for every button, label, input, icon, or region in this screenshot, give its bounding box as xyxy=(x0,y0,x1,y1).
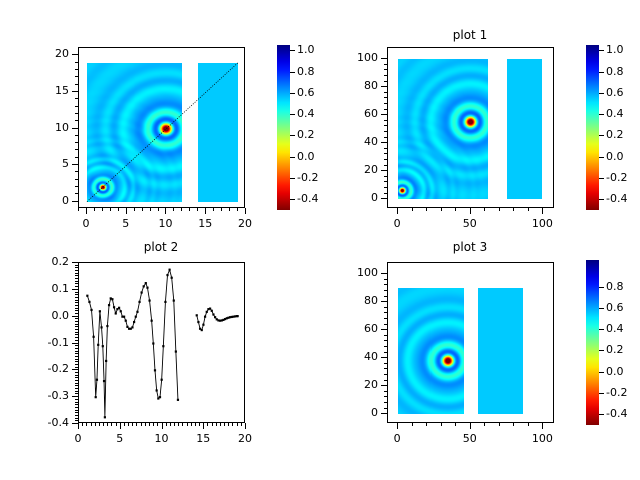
data-point-marker xyxy=(131,326,133,328)
y-tick-label: 0 xyxy=(327,191,378,204)
data-point-marker xyxy=(196,314,198,316)
y-minor-tick xyxy=(75,343,78,344)
data-point-marker xyxy=(168,269,170,271)
data-point-marker xyxy=(118,307,120,309)
x-minor-tick xyxy=(86,423,87,426)
y-minor-tick xyxy=(75,404,78,405)
y-minor-tick xyxy=(384,97,387,98)
colorbar-tick xyxy=(599,308,604,309)
data-point-marker xyxy=(104,416,106,418)
y-tick-label: 60 xyxy=(327,107,378,120)
colorbar-tick-label: -0.4 xyxy=(606,192,640,205)
colorbar-tick-label: -0.2 xyxy=(606,386,640,399)
colorbar-tick xyxy=(599,93,604,94)
y-tick-label: 20 xyxy=(327,163,378,176)
y-minor-tick xyxy=(75,348,78,349)
y-minor-tick xyxy=(75,305,78,306)
y-minor-tick xyxy=(384,142,387,143)
x-minor-tick xyxy=(397,208,398,211)
x-minor-tick xyxy=(228,423,229,426)
colorbar-tick-label: 0.8 xyxy=(606,65,640,78)
y-minor-tick xyxy=(384,187,387,188)
x-tick-label: 20 xyxy=(220,432,270,445)
x-minor-tick xyxy=(107,423,108,426)
colorbar-tick-label: 0.2 xyxy=(606,128,640,141)
y-tick-label: 0.2 xyxy=(18,255,69,268)
data-point-marker xyxy=(212,313,214,315)
y-minor-tick xyxy=(384,290,387,291)
y-tick-label: 10 xyxy=(18,121,69,134)
heatmap-tile-left-tile xyxy=(398,288,463,414)
data-point-marker xyxy=(86,295,88,297)
y-minor-tick xyxy=(75,418,78,419)
y-minor-tick xyxy=(75,275,78,276)
y-minor-tick xyxy=(384,69,387,70)
y-minor-tick xyxy=(75,377,78,378)
x-tick-label: 100 xyxy=(517,432,567,445)
y-minor-tick xyxy=(384,120,387,121)
y-tick-label: 0.0 xyxy=(18,309,69,322)
data-point-marker xyxy=(201,329,203,331)
y-tick-label: 15 xyxy=(18,84,69,97)
data-point-marker xyxy=(204,316,206,318)
colorbar-tick-label: 0.6 xyxy=(606,86,640,99)
y-tick-label: 40 xyxy=(327,350,378,363)
colorbar-tick xyxy=(599,114,604,115)
x-minor-tick xyxy=(120,423,121,426)
y-minor-tick xyxy=(75,383,78,384)
colorbar-tick xyxy=(599,157,604,158)
data-point-marker xyxy=(100,326,102,328)
x-minor-tick xyxy=(86,208,87,211)
data-point-marker xyxy=(145,282,147,284)
y-minor-tick xyxy=(75,313,78,314)
x-minor-tick xyxy=(528,423,529,426)
y-minor-tick xyxy=(384,193,387,194)
y-minor-tick xyxy=(384,318,387,319)
y-minor-tick xyxy=(384,284,387,285)
colorbar-tick-label: 0.2 xyxy=(606,343,640,356)
y-minor-tick xyxy=(384,176,387,177)
x-minor-tick xyxy=(199,423,200,426)
data-point-marker xyxy=(202,324,204,326)
y-minor-tick xyxy=(75,345,78,346)
y-minor-tick xyxy=(75,69,78,70)
subplot-title: plot 2 xyxy=(81,240,241,254)
y-minor-tick xyxy=(75,369,78,370)
x-minor-tick xyxy=(205,208,206,211)
data-point-marker xyxy=(105,360,107,362)
x-minor-tick xyxy=(221,208,222,211)
x-minor-tick xyxy=(229,208,230,211)
y-minor-tick xyxy=(384,307,387,308)
data-point-marker xyxy=(96,379,98,381)
x-minor-tick xyxy=(412,208,413,211)
y-tick-label: 0 xyxy=(327,406,378,419)
y-minor-tick xyxy=(75,278,78,279)
y-tick-label: 0 xyxy=(18,194,69,207)
subplot-title: plot 3 xyxy=(390,240,550,254)
y-minor-tick xyxy=(384,296,387,297)
data-point-marker xyxy=(143,285,145,287)
colorbar-tick xyxy=(290,72,295,73)
y-minor-tick xyxy=(75,372,78,373)
y-minor-tick xyxy=(384,368,387,369)
data-point-marker xyxy=(175,350,177,352)
y-minor-tick xyxy=(75,324,78,325)
y-minor-tick xyxy=(75,76,78,77)
x-minor-tick xyxy=(245,208,246,211)
data-point-marker xyxy=(156,389,158,391)
y-minor-tick xyxy=(384,408,387,409)
y-tick-label: -0.1 xyxy=(18,336,69,349)
x-minor-tick xyxy=(126,208,127,211)
x-minor-tick xyxy=(132,423,133,426)
axes-frame xyxy=(78,47,245,208)
heatmap-layer xyxy=(388,48,555,209)
x-minor-tick xyxy=(189,208,190,211)
colorbar-tick-label: 0.4 xyxy=(606,322,640,335)
y-minor-tick xyxy=(75,179,78,180)
y-minor-tick xyxy=(384,413,387,414)
x-minor-tick xyxy=(241,423,242,426)
axes-frame xyxy=(387,47,554,208)
y-minor-tick xyxy=(75,270,78,271)
data-point-marker xyxy=(99,310,101,312)
x-minor-tick xyxy=(216,423,217,426)
x-minor-tick xyxy=(166,423,167,426)
colorbar-tick-label: 0.0 xyxy=(606,365,640,378)
y-minor-tick xyxy=(75,283,78,284)
y-minor-tick xyxy=(75,334,78,335)
x-minor-tick xyxy=(397,423,398,426)
colorbar-tick-label: -0.2 xyxy=(606,171,640,184)
x-minor-tick xyxy=(103,423,104,426)
y-minor-tick xyxy=(384,340,387,341)
x-minor-tick xyxy=(237,208,238,211)
y-minor-tick xyxy=(75,113,78,114)
x-minor-tick xyxy=(150,208,151,211)
x-minor-tick xyxy=(124,423,125,426)
data-point-marker xyxy=(113,306,115,308)
x-minor-tick xyxy=(412,423,413,426)
y-tick-label: 40 xyxy=(327,135,378,148)
y-tick-label: -0.3 xyxy=(18,389,69,402)
axes-frame xyxy=(78,262,245,423)
y-minor-tick xyxy=(75,289,78,290)
y-minor-tick xyxy=(384,374,387,375)
y-minor-tick xyxy=(384,279,387,280)
x-minor-tick xyxy=(187,423,188,426)
colorbar xyxy=(586,260,599,425)
y-minor-tick xyxy=(384,357,387,358)
x-minor-tick xyxy=(173,208,174,211)
y-minor-tick xyxy=(75,399,78,400)
x-minor-tick xyxy=(213,208,214,211)
colorbar-tick xyxy=(290,178,295,179)
data-point-marker xyxy=(166,274,168,276)
y-tick-label: 100 xyxy=(327,266,378,279)
colorbar-tick xyxy=(599,350,604,351)
data-point-marker xyxy=(161,379,163,381)
y-minor-tick xyxy=(75,420,78,421)
x-tick-label: 100 xyxy=(517,217,567,230)
x-minor-tick xyxy=(220,423,221,426)
x-minor-tick xyxy=(207,423,208,426)
data-point-marker xyxy=(237,315,239,317)
x-minor-tick xyxy=(470,208,471,211)
y-minor-tick xyxy=(75,281,78,282)
y-minor-tick xyxy=(384,114,387,115)
x-minor-tick xyxy=(484,208,485,211)
y-minor-tick xyxy=(384,396,387,397)
y-minor-tick xyxy=(75,326,78,327)
x-minor-tick xyxy=(102,208,103,211)
y-minor-tick xyxy=(384,103,387,104)
x-minor-tick xyxy=(142,208,143,211)
colorbar-tick-label: 0.6 xyxy=(606,301,640,314)
colorbar-tick xyxy=(599,393,604,394)
x-minor-tick xyxy=(153,423,154,426)
x-minor-tick xyxy=(197,208,198,211)
x-minor-tick xyxy=(178,423,179,426)
y-minor-tick xyxy=(75,106,78,107)
y-minor-tick xyxy=(75,300,78,301)
y-minor-tick xyxy=(75,415,78,416)
y-minor-tick xyxy=(75,297,78,298)
y-minor-tick xyxy=(384,159,387,160)
x-minor-tick xyxy=(499,423,500,426)
colorbar-tick xyxy=(599,178,604,179)
y-minor-tick xyxy=(384,402,387,403)
data-point-marker xyxy=(120,310,122,312)
y-minor-tick xyxy=(75,292,78,293)
y-minor-tick xyxy=(75,186,78,187)
x-minor-tick xyxy=(136,423,137,426)
colorbar-tick xyxy=(290,114,295,115)
y-minor-tick xyxy=(75,120,78,121)
x-minor-tick xyxy=(111,423,112,426)
x-minor-tick xyxy=(181,208,182,211)
x-minor-tick xyxy=(441,423,442,426)
data-point-marker xyxy=(159,396,161,398)
y-minor-tick xyxy=(384,352,387,353)
data-point-marker xyxy=(148,299,150,301)
colorbar-tick-label: 0.8 xyxy=(606,280,640,293)
heatmap-tile-right-tile xyxy=(478,288,523,414)
y-minor-tick xyxy=(384,64,387,65)
colorbar-tick xyxy=(599,414,604,415)
y-major-tick xyxy=(72,262,78,263)
data-point-marker xyxy=(206,311,208,313)
y-minor-tick xyxy=(384,86,387,87)
x-tick-label: 50 xyxy=(445,217,495,230)
x-minor-tick xyxy=(128,423,129,426)
colorbar-tick xyxy=(599,372,604,373)
y-minor-tick xyxy=(384,363,387,364)
data-point-marker xyxy=(138,301,140,303)
y-minor-tick xyxy=(75,332,78,333)
x-minor-tick xyxy=(499,208,500,211)
subplot-title: plot 1 xyxy=(390,28,550,42)
colorbar-tick xyxy=(290,50,295,51)
x-minor-tick xyxy=(528,208,529,211)
data-point-marker xyxy=(125,320,127,322)
y-tick-label: 80 xyxy=(327,79,378,92)
data-point-marker xyxy=(123,316,125,318)
y-minor-tick xyxy=(75,273,78,274)
data-point-marker xyxy=(214,316,216,318)
x-minor-tick xyxy=(165,208,166,211)
y-minor-tick xyxy=(384,165,387,166)
x-minor-tick xyxy=(149,423,150,426)
y-minor-tick xyxy=(384,324,387,325)
x-tick-label: 0 xyxy=(372,432,422,445)
y-minor-tick xyxy=(384,125,387,126)
y-minor-tick xyxy=(384,391,387,392)
x-tick-label: 50 xyxy=(445,432,495,445)
y-minor-tick xyxy=(75,375,78,376)
x-minor-tick xyxy=(470,423,471,426)
colorbar-tick xyxy=(599,72,604,73)
heatmap-tile-right-tile xyxy=(507,59,542,199)
y-tick-label: 20 xyxy=(327,378,378,391)
y-minor-tick xyxy=(75,361,78,362)
y-tick-label: 20 xyxy=(18,47,69,60)
data-point-marker xyxy=(146,287,148,289)
y-minor-tick xyxy=(75,302,78,303)
x-minor-tick xyxy=(542,423,543,426)
y-minor-tick xyxy=(75,54,78,55)
y-minor-tick xyxy=(75,91,78,92)
y-minor-tick xyxy=(75,367,78,368)
y-minor-tick xyxy=(75,157,78,158)
x-minor-tick xyxy=(118,208,119,211)
y-minor-tick xyxy=(75,316,78,317)
y-minor-tick xyxy=(384,301,387,302)
data-point-marker xyxy=(97,344,99,346)
data-point-marker xyxy=(197,321,199,323)
y-minor-tick xyxy=(75,267,78,268)
y-minor-tick xyxy=(75,84,78,85)
y-tick-label: -0.2 xyxy=(18,362,69,375)
y-minor-tick xyxy=(75,351,78,352)
diagonal-dotted-line xyxy=(79,48,246,209)
line-segment-1 xyxy=(87,270,178,418)
y-minor-tick xyxy=(75,318,78,319)
x-minor-tick xyxy=(141,423,142,426)
data-point-marker xyxy=(108,304,110,306)
data-point-marker xyxy=(133,321,135,323)
heatmap-tile-left-tile xyxy=(398,59,488,199)
y-minor-tick xyxy=(384,75,387,76)
axes-frame xyxy=(387,262,554,423)
y-minor-tick xyxy=(75,98,78,99)
y-minor-tick xyxy=(384,385,387,386)
colorbar-tick xyxy=(599,50,604,51)
x-minor-tick xyxy=(182,423,183,426)
data-point-marker xyxy=(209,308,211,310)
y-tick-label: 80 xyxy=(327,294,378,307)
y-minor-tick xyxy=(75,388,78,389)
data-point-marker xyxy=(95,396,97,398)
x-minor-tick xyxy=(116,423,117,426)
x-minor-tick xyxy=(484,423,485,426)
x-minor-tick xyxy=(441,208,442,211)
y-minor-tick xyxy=(75,142,78,143)
data-point-marker xyxy=(106,325,108,327)
data-point-marker xyxy=(103,380,105,382)
y-tick-label: 5 xyxy=(18,157,69,170)
x-minor-tick xyxy=(203,423,204,426)
data-point-marker xyxy=(126,326,128,328)
y-minor-tick xyxy=(384,148,387,149)
colorbar-tick xyxy=(290,93,295,94)
x-minor-tick xyxy=(224,423,225,426)
y-tick-label: 0.1 xyxy=(18,282,69,295)
colorbar-tick xyxy=(599,135,604,136)
y-minor-tick xyxy=(384,335,387,336)
y-minor-tick xyxy=(384,346,387,347)
data-point-marker xyxy=(177,399,179,401)
data-point-marker xyxy=(141,291,143,293)
data-point-marker xyxy=(151,320,153,322)
y-minor-tick xyxy=(384,380,387,381)
y-minor-tick xyxy=(75,359,78,360)
y-tick-label: 100 xyxy=(327,51,378,64)
y-minor-tick xyxy=(75,294,78,295)
colorbar-tick-label: -0.4 xyxy=(606,407,640,420)
y-minor-tick xyxy=(75,149,78,150)
y-minor-tick xyxy=(384,131,387,132)
x-minor-tick xyxy=(78,423,79,426)
y-minor-tick xyxy=(75,201,78,202)
x-minor-tick xyxy=(134,208,135,211)
data-point-marker xyxy=(135,316,137,318)
y-minor-tick xyxy=(384,312,387,313)
colorbar-tick xyxy=(599,199,604,200)
x-minor-tick xyxy=(426,208,427,211)
x-minor-tick xyxy=(78,208,79,211)
colorbar-tick xyxy=(599,287,604,288)
y-minor-tick xyxy=(75,310,78,311)
colorbar-tick-label: 1.0 xyxy=(606,43,640,56)
y-minor-tick xyxy=(75,135,78,136)
data-point-marker xyxy=(171,277,173,279)
y-minor-tick xyxy=(75,340,78,341)
y-minor-tick xyxy=(75,193,78,194)
x-minor-tick xyxy=(157,423,158,426)
y-minor-tick xyxy=(75,407,78,408)
y-minor-tick xyxy=(384,58,387,59)
x-minor-tick xyxy=(191,423,192,426)
x-minor-tick xyxy=(212,423,213,426)
y-minor-tick xyxy=(75,164,78,165)
data-point-marker xyxy=(164,301,166,303)
data-point-marker xyxy=(154,369,156,371)
colorbar-tick xyxy=(599,329,604,330)
x-minor-tick xyxy=(158,208,159,211)
colorbar-tick-label: 0.0 xyxy=(297,150,337,163)
x-minor-tick xyxy=(82,423,83,426)
colorbar-tick xyxy=(290,199,295,200)
y-tick-label: -0.4 xyxy=(18,416,69,429)
x-minor-tick xyxy=(162,423,163,426)
x-minor-tick xyxy=(455,423,456,426)
x-minor-tick xyxy=(174,423,175,426)
y-minor-tick xyxy=(384,109,387,110)
y-minor-tick xyxy=(75,380,78,381)
